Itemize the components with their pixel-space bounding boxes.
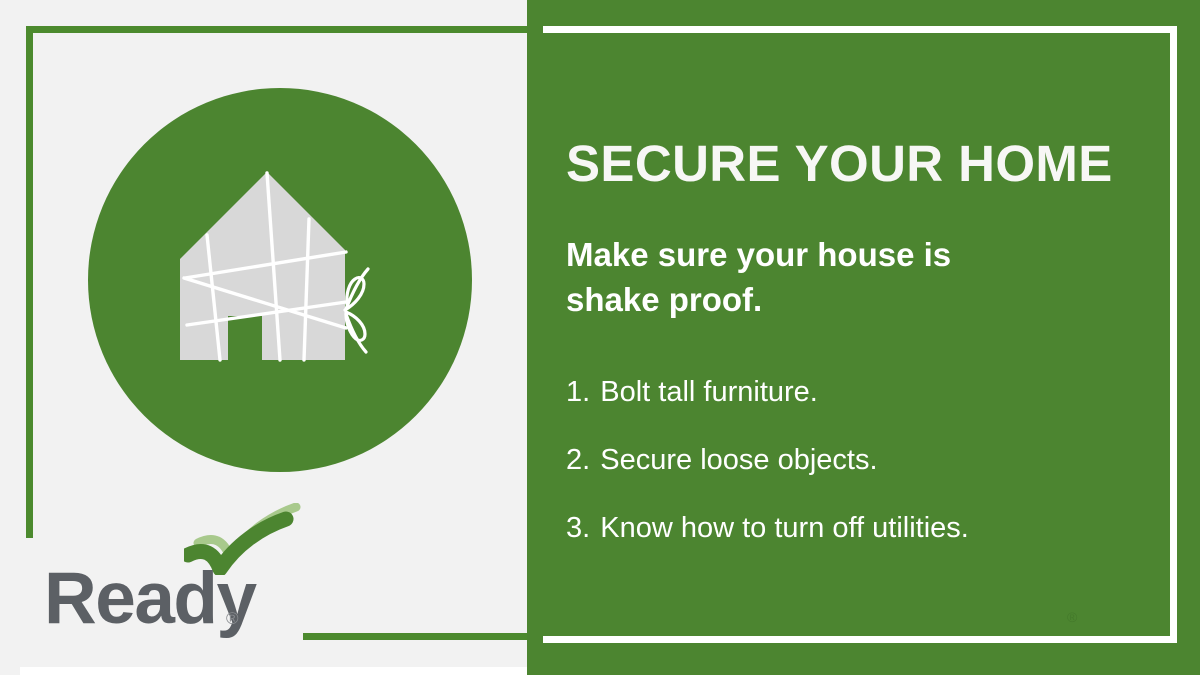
list-item-label: Bolt tall furniture.: [600, 376, 818, 408]
page-subtitle: Make sure your house is shake proof.: [566, 233, 1036, 323]
list-item-number: 2.: [566, 444, 590, 476]
right-frame-top-border: [543, 26, 1177, 33]
left-frame-left-border: [26, 26, 33, 538]
list-item: 2. Secure loose objects.: [566, 446, 1126, 475]
list-item-number: 1.: [566, 376, 590, 408]
right-frame-bottom-border: [543, 636, 1177, 643]
list-item-label: Secure loose objects.: [600, 444, 877, 476]
house-tied-with-ribbon-icon: [88, 88, 472, 472]
corner-registered-mark: ®: [1067, 610, 1077, 624]
list-item-number: 3.: [566, 512, 590, 544]
ready-wordmark: Ready: [44, 562, 256, 635]
left-frame-top-border: [26, 26, 527, 33]
list-item: 3. Know how to turn off utilities.: [566, 514, 1126, 543]
ready-logo: Ready ®: [44, 500, 314, 660]
list-item: 1. Bolt tall furniture.: [566, 378, 1126, 407]
right-frame-right-border: [1170, 26, 1177, 643]
left-panel-bottom-white-strip: [20, 667, 527, 675]
ready-registered-mark: ®: [226, 610, 239, 627]
left-frame-bottom-border: [303, 633, 527, 640]
page-title: SECURE YOUR HOME: [566, 137, 1156, 191]
ready-earthquake-preparedness-poster: Ready ® SECURE YOUR HOME Make sure your …: [0, 0, 1200, 675]
steps-list: 1. Bolt tall furniture. 2. Secure loose …: [566, 378, 1126, 582]
list-item-label: Know how to turn off utilities.: [600, 512, 969, 544]
